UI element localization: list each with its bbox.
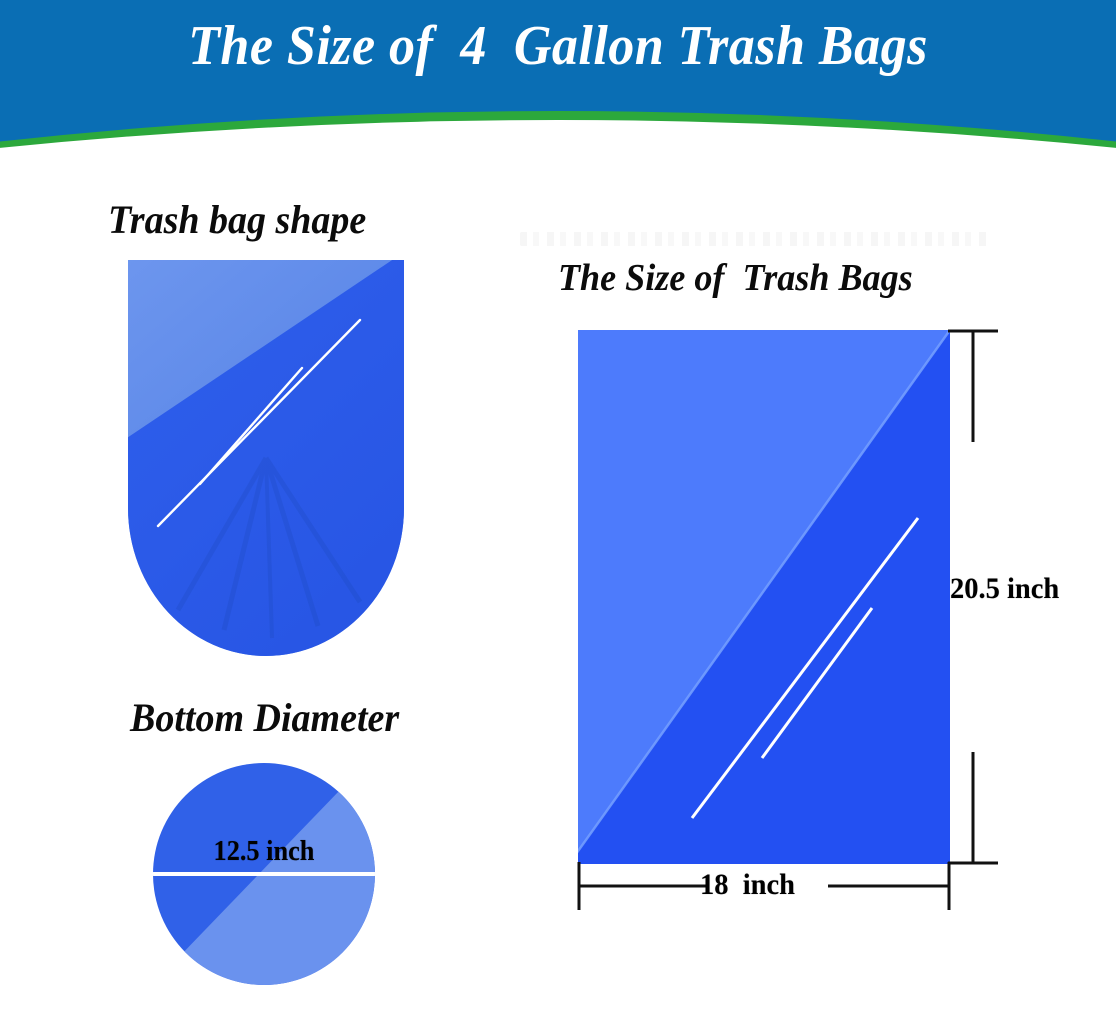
trash-bag-shape-heading: Trash bag shape xyxy=(108,196,366,243)
height-dimension-label: 20.5 inch xyxy=(950,572,1059,606)
bag-body xyxy=(122,258,410,660)
bottom-diameter-value: 12.5 inch xyxy=(159,836,370,868)
trash-bag-size-heading: The Size of Trash Bags xyxy=(558,256,913,300)
bottom-diameter-figure: 12.5 inch xyxy=(152,762,376,986)
width-dimension-label: 18 inch xyxy=(700,868,795,902)
trash-bag-illustration xyxy=(122,258,410,660)
bag-rectangle xyxy=(556,310,1096,910)
bottom-diameter-heading: Bottom Diameter xyxy=(130,694,399,741)
bottom-diameter-circle xyxy=(152,762,376,986)
background-watermark xyxy=(520,232,990,246)
page-title: The Size of 4 Gallon Trash Bags xyxy=(39,16,1077,76)
trash-bag-size-figure xyxy=(556,310,1096,910)
size-diagram xyxy=(556,310,1096,910)
infographic-page: The Size of 4 Gallon Trash Bags Trash ba… xyxy=(0,0,1116,1010)
header-band: The Size of 4 Gallon Trash Bags xyxy=(0,0,1116,152)
